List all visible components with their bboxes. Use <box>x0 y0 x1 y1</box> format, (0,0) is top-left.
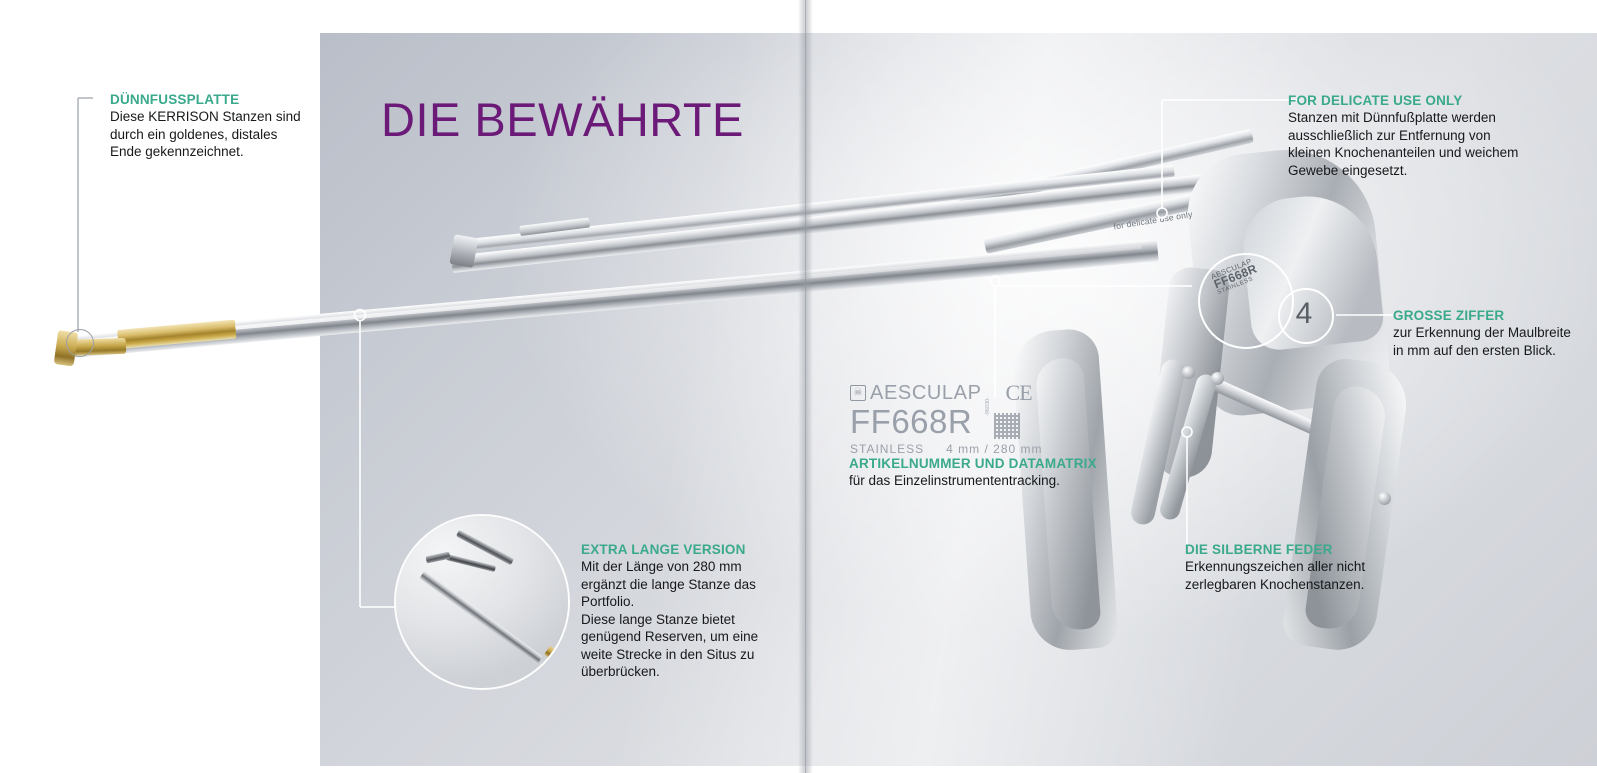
callout-line: Ende gekennzeichnet. <box>110 143 301 161</box>
article-number: FF668R <box>850 405 972 439</box>
callout-line: Portfolio. <box>581 593 758 611</box>
callout-line: zur Erkennung der Maulbreite <box>1393 324 1571 342</box>
callout-line: überbrücken. <box>581 663 758 681</box>
callout-line: Diese lange Stanze bietet <box>581 611 758 629</box>
callout-silberne-feder: DIE SILBERNE FEDER Erkennungszeichen all… <box>1185 541 1365 593</box>
datamatrix-side-text: -96030- <box>985 397 991 416</box>
callout-grosse-ziffer: GROSSE ZIFFER zur Erkennung der Maulbrei… <box>1393 307 1571 359</box>
callout-title: DIE SILBERNE FEDER <box>1185 541 1365 558</box>
callout-body: Diese KERRISON Stanzen sind durch ein go… <box>110 108 301 161</box>
callout-line: Diese KERRISON Stanzen sind <box>110 108 301 126</box>
inset-photo-extra-long-version <box>396 516 568 688</box>
inset-shaft <box>419 571 542 664</box>
callout-title: ARTIKELNUMMER UND DATAMATRIX <box>849 455 1097 472</box>
aesculap-brand: ☠ AESCULAP <box>850 383 982 403</box>
callout-title: FOR DELICATE USE ONLY <box>1288 92 1518 109</box>
brochure-page: for delicate use only AESCULAP FF668R ST… <box>0 0 1597 773</box>
material-text: STAINLESS <box>850 442 924 456</box>
page-title: DIE BEWÄHRTE <box>381 91 744 149</box>
callout-body: Mit der Länge von 280 mm ergänzt die lan… <box>581 558 758 681</box>
callout-artikelnummer: ARTIKELNUMMER UND DATAMATRIX für das Ein… <box>849 455 1097 490</box>
callout-title: GROSSE ZIFFER <box>1393 307 1571 324</box>
callout-line: Stanzen mit Dünnfußplatte werden <box>1288 109 1518 127</box>
callout-line: für das Einzelinstrumententracking. <box>849 472 1097 490</box>
callout-title: EXTRA LANGE VERSION <box>581 541 758 558</box>
callout-line: in mm auf den ersten Blick. <box>1393 342 1571 360</box>
callout-line: kleinen Knochenanteilen und weichem <box>1288 144 1518 162</box>
callout-duennfussplatte: DÜNNFUSSPLATTE Diese KERRISON Stanzen si… <box>110 91 301 161</box>
product-label: ☠ AESCULAP CE FF668R -96030- STAINLESS 4… <box>850 383 1043 456</box>
callout-line: ergänzt die lange Stanze das <box>581 576 758 594</box>
callout-line: Mit der Länge von 280 mm <box>581 558 758 576</box>
inset-jaw-mid <box>446 554 496 572</box>
callout-line: Gewebe eingesetzt. <box>1288 162 1518 180</box>
brand-name: AESCULAP <box>870 383 982 403</box>
callout-line: ausschließlich zur Entfernung von <box>1288 127 1518 145</box>
callout-body: für das Einzelinstrumententracking. <box>849 472 1097 490</box>
gold-footplate-bridge <box>64 338 127 356</box>
callout-line: zerlegbaren Knochenstanzen. <box>1185 576 1365 594</box>
ce-mark-icon: CE <box>1006 383 1032 403</box>
callout-body: Erkennungszeichen aller nicht zerlegbare… <box>1185 558 1365 593</box>
callout-body: zur Erkennung der Maulbreite in mm auf d… <box>1393 324 1571 359</box>
callout-title: DÜNNFUSSPLATTE <box>110 91 301 108</box>
aesculap-emblem-icon: ☠ <box>850 385 866 401</box>
callout-line: durch ein goldenes, distales <box>110 126 301 144</box>
callout-body: Stanzen mit Dünnfußplatte werden ausschl… <box>1288 109 1518 179</box>
dimensions-text: 4 mm / 280 mm <box>946 442 1042 456</box>
callout-extra-lange-version: EXTRA LANGE VERSION Mit der Länge von 28… <box>581 541 758 681</box>
callout-line: weite Strecke in den Situs zu <box>581 646 758 664</box>
inset-jaw-lower <box>426 552 451 564</box>
callout-for-delicate-use-only: FOR DELICATE USE ONLY Stanzen mit Dünnfu… <box>1288 92 1518 179</box>
gold-distal-sleeve <box>117 320 236 349</box>
gold-footplate-tip <box>54 330 79 366</box>
datamatrix-icon: -96030- <box>994 413 1020 439</box>
page-fold-line <box>805 0 806 773</box>
callout-line: genügend Reserven, um eine <box>581 628 758 646</box>
callout-line: Erkennungszeichen aller nicht <box>1185 558 1365 576</box>
marker-ring-gold-tip <box>66 329 94 357</box>
